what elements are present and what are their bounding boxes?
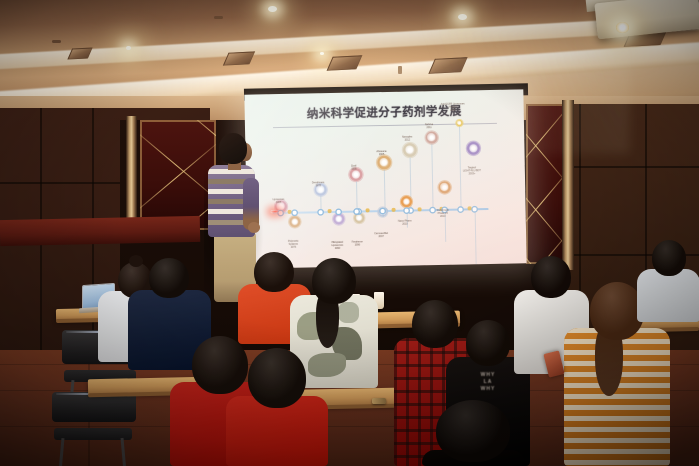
projector-lens-icon	[616, 22, 629, 33]
projection-screen: 纳米科学促进分子药剂学发展 Liposomes 1965Polymeric Sy…	[244, 89, 526, 268]
attendee-head	[652, 240, 686, 276]
chair-leg	[59, 438, 64, 466]
wall-chair-rail	[0, 216, 200, 246]
chair-left-front[interactable]	[52, 392, 136, 462]
lecture-hall-photo: 纳米科学促进分子药剂学发展 Liposomes 1965Polymeric Sy…	[0, 0, 699, 466]
ceiling-sprinkler	[398, 66, 402, 74]
attendee-head	[466, 320, 510, 366]
shirt-graphic-text: WHY LA WHY	[446, 372, 530, 392]
attendee-head	[312, 258, 356, 304]
attendee-back-row-white	[636, 240, 699, 322]
wall-alcove-right	[526, 104, 564, 264]
smoke-detector	[52, 40, 61, 43]
chair-leg	[121, 438, 126, 466]
attendee-head	[149, 258, 189, 298]
keys-on-desk[interactable]	[372, 398, 386, 404]
presenter-head	[219, 133, 247, 164]
attendee-head	[436, 400, 510, 462]
screen-glare	[244, 89, 526, 268]
smoke-detector	[214, 16, 223, 19]
attendee-torso	[637, 269, 699, 322]
ceiling-downlight	[126, 46, 131, 50]
presenter-hand	[248, 222, 260, 233]
attendee-red-blouse-front	[224, 348, 330, 466]
wall-pillar-right	[562, 100, 574, 270]
attendee-head	[248, 348, 306, 408]
ceiling-downlight	[320, 52, 324, 55]
attendee-dark-hair-front	[420, 400, 526, 466]
